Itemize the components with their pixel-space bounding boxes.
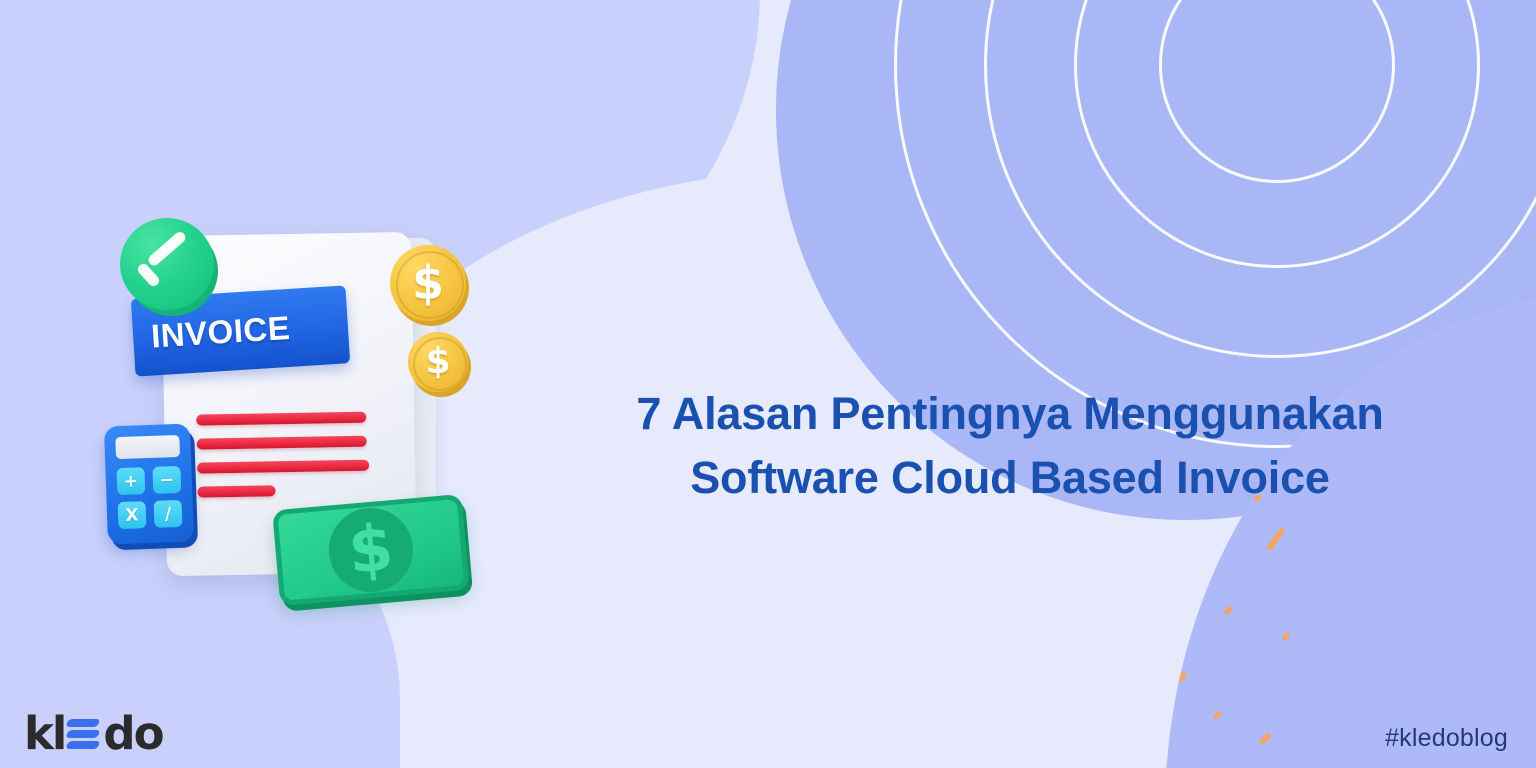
confetti-dash-7 xyxy=(1281,631,1290,641)
dollar-sign-icon: $ xyxy=(412,260,444,306)
periwinkle-band-bottom-right xyxy=(1129,276,1536,768)
calculator-key-plus: + xyxy=(116,467,145,495)
kledo-e-bars-icon xyxy=(67,713,101,753)
check-circle-icon xyxy=(120,218,218,316)
kledo-logo[interactable]: kl do xyxy=(24,709,163,757)
decor-ring-3 xyxy=(984,0,1536,358)
confetti-dash-6 xyxy=(1223,605,1234,615)
decor-ring-4 xyxy=(894,0,1536,448)
confetti-dash-5 xyxy=(1177,557,1206,579)
confetti-dash-8 xyxy=(1172,671,1188,686)
confetti-dash-10 xyxy=(1258,732,1272,746)
confetti-dash-9 xyxy=(1212,710,1222,720)
decor-ring-1 xyxy=(1159,0,1395,183)
calculator-display xyxy=(115,435,180,459)
calculator-key-times: X xyxy=(118,501,147,529)
invoice-text-line-1 xyxy=(196,412,366,426)
decor-ring-2 xyxy=(1074,0,1480,268)
page-title-line-2: Software Cloud Based Invoice xyxy=(560,446,1460,510)
banknote-body: $ xyxy=(272,494,470,606)
confetti-dash-1 xyxy=(1230,351,1247,373)
invoice-text-line-3 xyxy=(197,460,369,474)
calculator-key-divide: / xyxy=(154,500,183,528)
dollar-sign-icon: $ xyxy=(425,344,450,380)
checkmark-glyph xyxy=(140,242,196,286)
banknote-icon: $ xyxy=(272,494,470,608)
logo-text-prefix: kl xyxy=(24,711,65,756)
coin-face: $ xyxy=(390,245,466,321)
hashtag-label: #kledoblog xyxy=(1385,724,1508,753)
coin-face: $ xyxy=(408,332,468,392)
calculator-icon: + − X / xyxy=(104,424,194,547)
page-title-line-1: 7 Alasan Pentingnya Menggunakan xyxy=(560,382,1460,446)
dollar-sign-icon: $ xyxy=(346,516,396,584)
check-circle-face xyxy=(120,218,214,310)
calculator-key-minus: − xyxy=(152,466,181,494)
confetti-dash-4 xyxy=(1266,527,1286,552)
gold-coin-large-icon: $ xyxy=(390,245,466,321)
invoice-illustration: INVOICE $ $ + xyxy=(96,200,496,640)
logo-text-suffix: do xyxy=(103,711,162,756)
invoice-text-line-4 xyxy=(197,485,275,497)
page-title: 7 Alasan Pentingnya Menggunakan Software… xyxy=(560,382,1460,510)
calculator-body: + − X / xyxy=(104,424,194,545)
gold-coin-small-icon: $ xyxy=(408,332,468,392)
banner-canvas: INVOICE $ $ + xyxy=(0,0,1536,768)
invoice-text-line-2 xyxy=(197,436,367,450)
confetti-dashes-decor xyxy=(1129,276,1536,326)
